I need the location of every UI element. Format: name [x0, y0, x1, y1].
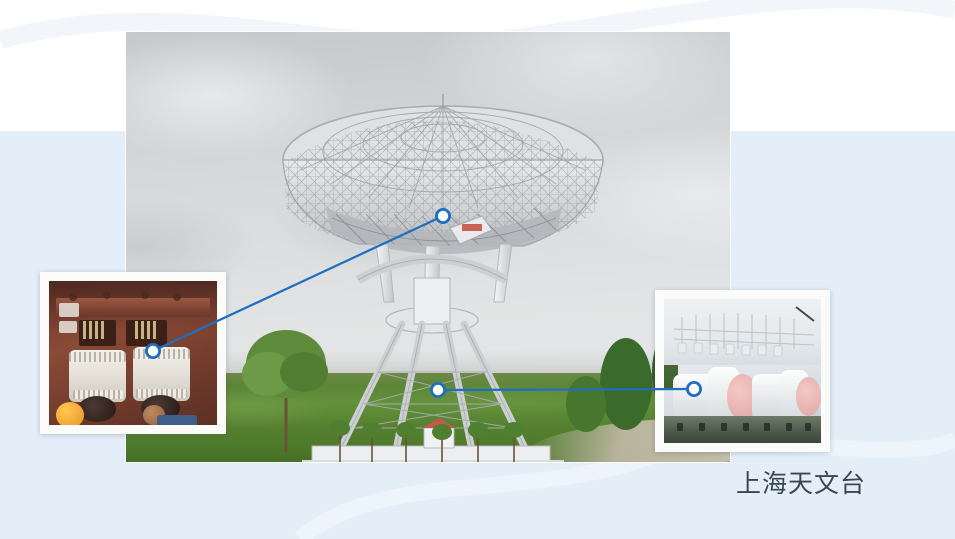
page-title: 上海天文台: [736, 470, 866, 500]
bearing-bolt-ring: [133, 349, 190, 359]
bearing-bolt-ring: [69, 352, 126, 362]
worker-body: [157, 415, 197, 425]
rail-bolt: [786, 423, 792, 431]
bearing-assembly-installed-photo: [655, 290, 830, 452]
rail-bolt: [721, 423, 727, 431]
rail-bolt: [805, 423, 811, 431]
bearing-end-cover-right: [796, 377, 821, 416]
slide-canvas: 上海天文台: [0, 0, 955, 539]
rail-bolt: [743, 423, 749, 431]
bearing-assembly-rusty-photo: [40, 272, 226, 434]
rail-bolt: [699, 423, 705, 431]
rail-bolt: [764, 423, 770, 431]
rail-bolt: [677, 423, 683, 431]
hard-hat: [56, 402, 85, 425]
